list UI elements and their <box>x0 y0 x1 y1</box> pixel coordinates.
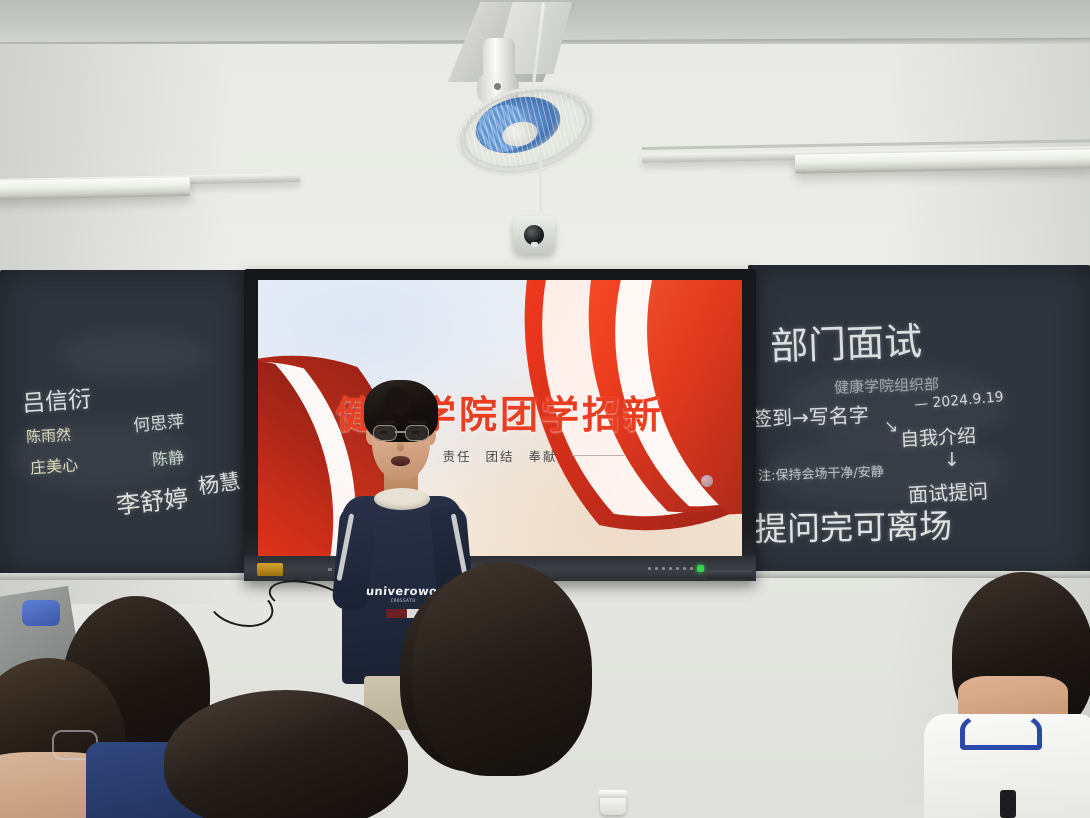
chalk-text: 自我介绍 <box>899 421 976 452</box>
brand-badge <box>257 563 283 576</box>
security-camera <box>513 216 555 254</box>
audience-lanyard <box>960 710 1042 750</box>
fan-screw <box>494 83 501 90</box>
chalk-text: 陈雨然 <box>25 424 71 447</box>
eye <box>412 431 419 434</box>
chalk-text: 何思萍 <box>132 407 185 436</box>
chalk-text: ↓ <box>944 449 960 471</box>
slide-title: 健康学院团学招新 <box>258 384 742 439</box>
power-led-icon <box>697 565 704 572</box>
paper-cup <box>600 793 626 815</box>
subtitle-item-2: 团结 <box>485 446 514 465</box>
chalk-text: 签到→写名字 <box>752 399 870 432</box>
subtitle-item-3: 奉献 <box>529 446 558 465</box>
blackboard-right[interactable]: 部门面试健康学院组织部签到→写名字— 2024.9.19↘自我介绍↓注:保持会场… <box>748 265 1090 577</box>
chalk-smudge <box>60 330 210 380</box>
mouth <box>391 456 410 466</box>
smartboard-controls[interactable] <box>648 565 704 572</box>
camera-indicator <box>531 242 538 247</box>
chalk-text: 杨慧 <box>196 465 242 501</box>
hair-tuft <box>381 383 414 420</box>
fan-pull-cord[interactable] <box>539 152 542 212</box>
chalk-text: 李舒婷 <box>114 478 189 520</box>
audience-head <box>412 562 592 776</box>
smartboard-display[interactable]: 健康学院团学招新 责任 团结 奉献 <box>258 280 742 556</box>
wall-lamp-left <box>0 177 190 200</box>
presenter-collar <box>374 488 430 510</box>
chalk-text: 健康学院组织部 <box>834 373 940 398</box>
blackboard-left[interactable]: 吕信衍陈雨然庄美心何思萍陈静李舒婷杨慧 <box>0 270 250 575</box>
slide-subtitle: 责任 团结 奉献 <box>258 446 742 465</box>
nose <box>397 442 404 451</box>
glasses-bridge <box>395 431 405 433</box>
interactive-smartboard[interactable]: 健康学院团学招新 责任 团结 奉献 <box>244 269 756 581</box>
cable <box>204 579 278 634</box>
chalk-rail-left <box>0 573 250 580</box>
chalk-text: 庄美心 <box>29 451 79 478</box>
classroom-scene: 吕信衍陈雨然庄美心何思萍陈静李舒婷杨慧 部门面试健康学院组织部签到→写名字— 2… <box>0 0 1090 818</box>
chalk-text: 部门面试 <box>769 310 923 370</box>
cup-lid <box>598 790 628 798</box>
lanyard-badge <box>1000 790 1016 818</box>
sleeve-stripe <box>336 513 354 581</box>
blue-object <box>22 600 60 626</box>
audience-head <box>164 690 408 818</box>
eye <box>380 431 387 434</box>
chalk-text: 陈静 <box>151 444 185 470</box>
slide-cursor-dot <box>701 475 713 487</box>
subtitle-rule-right <box>572 455 624 456</box>
ceiling-fan[interactable] <box>447 2 627 202</box>
chalk-text: ↘ <box>884 417 898 437</box>
chalk-text: 提问完可离场 <box>754 499 953 550</box>
chalk-text: 吕信衍 <box>21 380 92 419</box>
